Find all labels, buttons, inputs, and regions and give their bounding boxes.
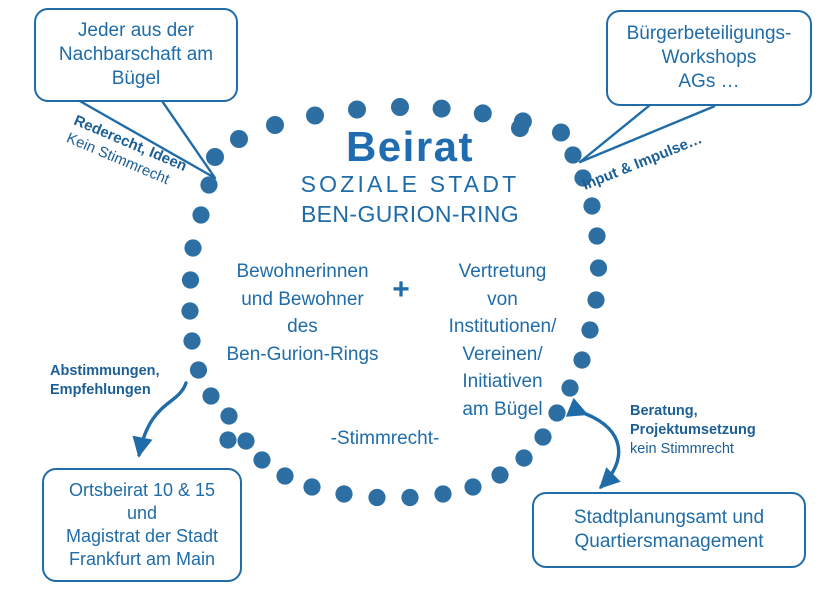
members-institutions-line: Vertretung xyxy=(415,258,590,286)
center-title-block: Beirat SOZIALE STADT BEN-GURION-RING xyxy=(210,125,610,229)
bubble-neighbourhood-line: Bügel xyxy=(112,67,161,91)
box-ortsbeirat-line: Ortsbeirat 10 & 15 xyxy=(69,479,215,502)
arrow-consultation-implementation xyxy=(586,414,619,487)
diagram-canvas: Beirat SOZIALE STADT BEN-GURION-RING Bew… xyxy=(0,0,820,600)
label-beratung-projektumsetzung: Beratung, Projektumsetzung kein Stimmrec… xyxy=(630,402,756,459)
box-stadtplanungsamt-line: Stadtplanungsamt und xyxy=(574,506,764,530)
voting-rights-note: -Stimmrecht- xyxy=(260,428,510,450)
bubble-neighbourhood[interactable]: Jeder aus der Nachbarschaft am Bügel xyxy=(34,8,238,102)
members-institutions-line: von xyxy=(415,286,590,314)
bubble-neighbourhood-line: Jeder aus der xyxy=(78,19,194,43)
members-institutions-line: Vereinen/ xyxy=(415,341,590,369)
box-ortsbeirat-magistrat[interactable]: Ortsbeirat 10 & 15 und Magistrat der Sta… xyxy=(42,468,242,582)
members-institutions-line: am Bügel xyxy=(415,396,590,424)
bubble-participation-line: Bürgerbeteiligungs- xyxy=(627,22,792,46)
center-subtitle-1: SOZIALE STADT xyxy=(210,169,610,200)
plus-icon: + xyxy=(385,275,417,305)
bubble-participation-line: AGs … xyxy=(678,70,739,94)
label-abstimmungen-empfehlungen: Abstimmungen, Empfehlungen xyxy=(50,362,160,400)
label-abstimmungen-line: Empfehlungen xyxy=(50,381,160,400)
members-residents-line: und Bewohner xyxy=(205,286,400,314)
bubble-neighbourhood-line: Nachbarschaft am xyxy=(59,43,213,67)
bubble-participation-line: Workshops xyxy=(662,46,757,70)
label-beratung-regular: kein Stimmrecht xyxy=(630,440,756,459)
label-beratung-line: Beratung, xyxy=(630,402,756,421)
members-residents-column: Bewohnerinnen und Bewohner des Ben-Gurio… xyxy=(205,258,400,368)
label-beratung-line: Projektumsetzung xyxy=(630,421,756,440)
bubble-participation-formats[interactable]: Bürgerbeteiligungs- Workshops AGs … xyxy=(606,10,812,106)
members-institutions-line: Initiativen xyxy=(415,368,590,396)
members-institutions-line: Institutionen/ xyxy=(415,313,590,341)
members-residents-line: Bewohnerinnen xyxy=(205,258,400,286)
label-abstimmungen-line: Abstimmungen, xyxy=(50,362,160,381)
members-residents-line: des xyxy=(205,313,400,341)
center-subtitle-2: BEN-GURION-RING xyxy=(210,200,610,229)
box-ortsbeirat-line: Magistrat der Stadt xyxy=(66,525,218,548)
members-residents-line: Ben-Gurion-Rings xyxy=(205,341,400,369)
box-stadtplanungsamt-quartiersmanagement[interactable]: Stadtplanungsamt und Quartiersmanagement xyxy=(532,492,806,568)
box-ortsbeirat-line: Frankfurt am Main xyxy=(69,548,215,571)
page-title: Beirat xyxy=(210,125,610,169)
members-institutions-column: Vertretung von Institutionen/ Vereinen/ … xyxy=(415,258,590,423)
box-stadtplanungsamt-line: Quartiersmanagement xyxy=(574,530,763,554)
box-ortsbeirat-line: und xyxy=(127,502,157,525)
